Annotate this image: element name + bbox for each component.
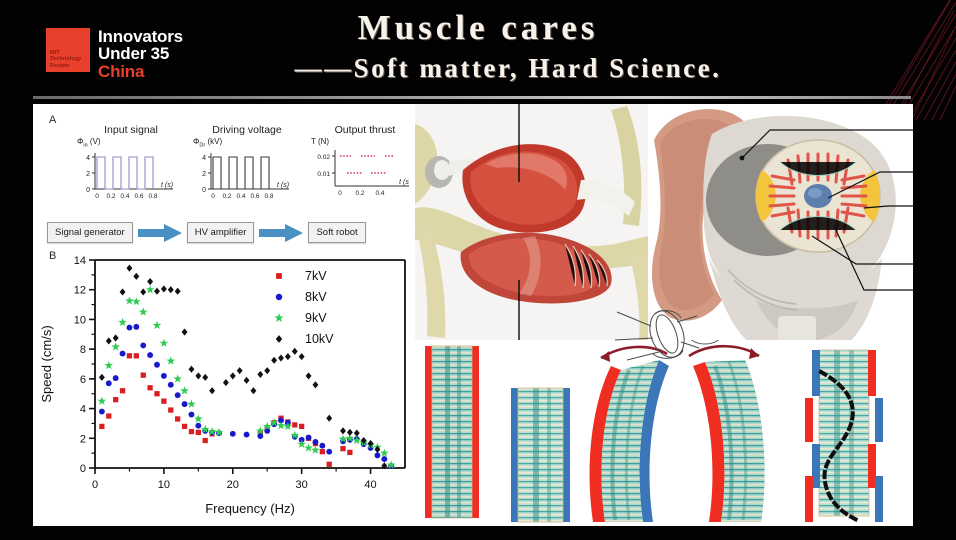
slide-root: MIT Technology Review Innovators Under 3… (0, 0, 956, 540)
svg-text:0: 0 (80, 463, 86, 475)
svg-text:20: 20 (227, 479, 239, 491)
signal-chain-flow: Signal generator HV amplifier Soft robot (47, 222, 407, 243)
svg-text:Frequency (Hz): Frequency (Hz) (205, 501, 295, 516)
svg-text:8: 8 (80, 344, 86, 356)
mini-plot-3-title: Output thrust (309, 124, 421, 136)
flow-arrow-2-icon (259, 224, 303, 242)
svg-text:14: 14 (74, 255, 86, 267)
svg-text:t (s: t (s (399, 179, 409, 186)
panel-a-tag: A (49, 114, 56, 126)
svg-text:7kV: 7kV (305, 269, 327, 283)
svg-text:2: 2 (80, 433, 86, 445)
svg-text:0.4: 0.4 (236, 193, 245, 200)
svg-text:0.2: 0.2 (355, 190, 364, 197)
mini-plot-2-canvas: 4 2 0 00.2 0.40.6 0.8 t (s) (191, 149, 299, 201)
svg-text:Speed (cm/s): Speed (cm/s) (39, 325, 54, 402)
svg-text:0.4: 0.4 (120, 193, 129, 200)
svg-text:10kV: 10kV (305, 332, 334, 346)
svg-text:10: 10 (158, 479, 170, 491)
flow-box-hv-amplifier[interactable]: HV amplifier (187, 222, 255, 243)
mini-plot-1-canvas: 4 2 0 00.2 0.40.6 0.8 t (s) (75, 149, 183, 201)
mini-plot-1-yunit: (V) (90, 137, 101, 146)
svg-text:40: 40 (364, 479, 376, 491)
series-8kV (99, 324, 394, 469)
mini-plot-output-thrust: Output thrust T (N) 0.02 0.01 (309, 124, 421, 214)
svg-text:8kV: 8kV (305, 290, 327, 304)
svg-text:4: 4 (202, 155, 206, 162)
svg-text:4: 4 (86, 155, 90, 162)
actuator-straight-blue (511, 388, 570, 522)
mini-plot-3-canvas: 0.02 0.01 00.20.4 t (s (309, 146, 417, 198)
mini-plot-2-ylabel: ΦDr (kV) (193, 137, 303, 149)
header-divider (33, 96, 911, 99)
svg-text:12: 12 (74, 285, 86, 297)
flow-arrow-1-icon (138, 224, 182, 242)
figure-panel-a: A Input signal Φin (V) 4 2 (33, 104, 413, 244)
svg-text:4: 4 (80, 404, 86, 416)
soft-actuator-sequence-image (415, 340, 913, 526)
svg-text:t (s): t (s) (161, 182, 173, 189)
slide-header: MIT Technology Review Innovators Under 3… (0, 0, 956, 103)
slide-title: Muscle cares (0, 8, 956, 48)
svg-text:0: 0 (95, 193, 99, 200)
figure-panel-b: B 02468101214010203040Frequency (Hz)Spee… (33, 246, 415, 524)
svg-text:0.8: 0.8 (264, 193, 273, 200)
svg-text:30: 30 (296, 479, 308, 491)
svg-text:t (s): t (s) (277, 182, 289, 189)
mini-plot-input-signal: Input signal Φin (V) 4 2 0 (75, 124, 187, 214)
svg-text:0: 0 (86, 187, 90, 194)
mini-plot-1-ylabel: Φin (V) (77, 137, 187, 149)
svg-text:0: 0 (92, 479, 98, 491)
mini-plot-1-title: Input signal (75, 124, 187, 136)
mini-plot-3-ysym: T (311, 137, 316, 146)
flow-box-soft-robot[interactable]: Soft robot (308, 222, 365, 243)
flow-box-signal-generator[interactable]: Signal generator (47, 222, 133, 243)
mini-plot-2-yunit: (kV) (207, 137, 222, 146)
svg-text:0.4: 0.4 (375, 190, 384, 197)
svg-text:0: 0 (202, 187, 206, 194)
actuator-straight-red (425, 346, 479, 518)
svg-text:10: 10 (74, 314, 86, 326)
mini-plot-3-yunit: (N) (318, 137, 329, 146)
svg-text:0.02: 0.02 (317, 154, 330, 161)
content-panel: A Input signal Φin (V) 4 2 (33, 104, 913, 526)
coil-winding-sketch (593, 304, 713, 366)
svg-text:0.01: 0.01 (317, 171, 330, 178)
svg-text:9kV: 9kV (305, 311, 327, 325)
svg-text:0.2: 0.2 (106, 193, 115, 200)
svg-text:0.2: 0.2 (222, 193, 231, 200)
speed-vs-frequency-scatter-chart: 02468101214010203040Frequency (Hz)Speed … (33, 246, 415, 524)
svg-text:0.8: 0.8 (148, 193, 157, 200)
svg-text:0: 0 (338, 190, 342, 197)
mini-plot-driving-voltage: Driving voltage ΦDr (kV) 4 2 0 (191, 124, 303, 214)
svg-text:6: 6 (80, 374, 86, 386)
slide-subtitle: ——Soft matter, Hard Science. (0, 53, 956, 84)
svg-text:2: 2 (86, 171, 90, 178)
mini-plot-3-ylabel: T (N) (311, 137, 421, 146)
svg-text:0.6: 0.6 (250, 193, 259, 200)
mini-plot-2-title: Driving voltage (191, 124, 303, 136)
svg-text:0: 0 (211, 193, 215, 200)
svg-text:2: 2 (202, 171, 206, 178)
svg-text:0.6: 0.6 (134, 193, 143, 200)
